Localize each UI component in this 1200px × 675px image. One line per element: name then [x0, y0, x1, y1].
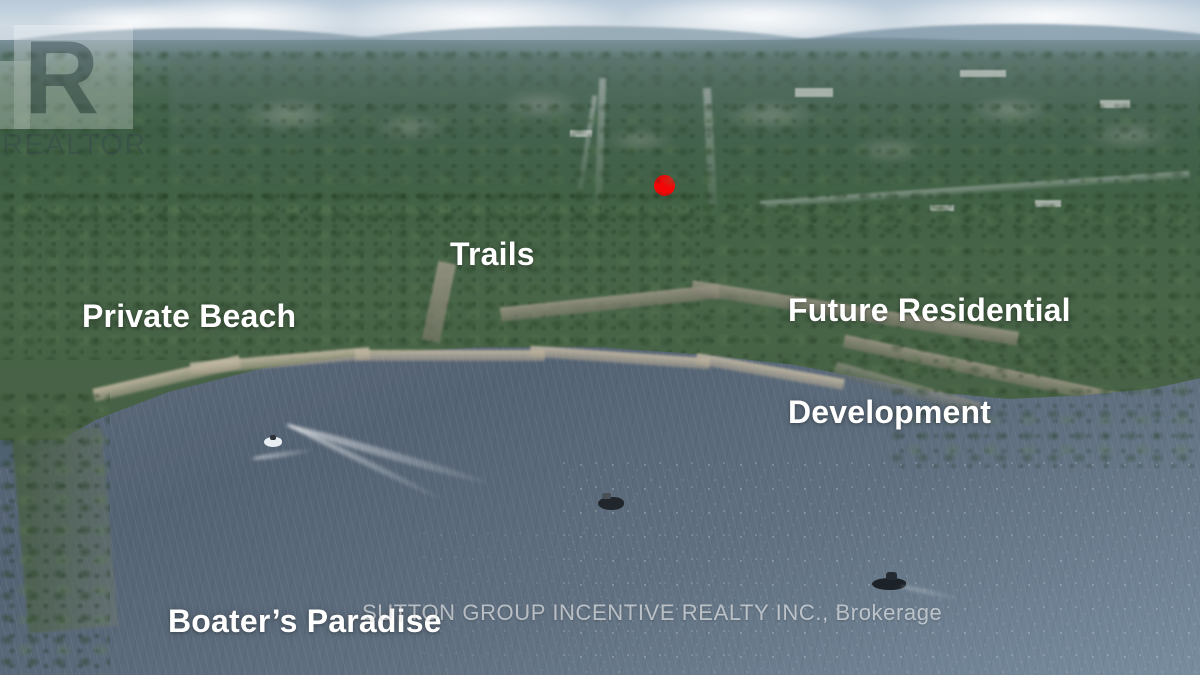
building — [795, 88, 833, 97]
brokerage-watermark: SUTTON GROUP INCENTIVE REALTY INC., Brok… — [362, 600, 942, 626]
annotation-future-residential-development: Future Residential Development — [788, 226, 1071, 497]
boat-right — [872, 578, 906, 591]
boat-with-wake — [264, 437, 282, 447]
annotation-private-beach: Private Beach — [82, 300, 296, 334]
aerial-property-photo: Private Beach Trails Future Residential … — [0, 0, 1200, 675]
scrubland — [0, 190, 700, 360]
realtor-logo-watermark: R REALTOR ® — [0, 25, 133, 165]
private-beach-sand — [355, 350, 545, 361]
shoreline-trees — [0, 390, 110, 675]
annotation-line-1: Future Residential — [788, 294, 1071, 328]
building — [960, 70, 1006, 77]
annotation-line-2: Development — [788, 396, 1071, 430]
realtor-logo-letter: R — [24, 33, 99, 125]
boat-center — [598, 497, 624, 510]
annotation-trails: Trails — [450, 238, 535, 272]
realtor-logo-wordmark: REALTOR — [2, 129, 147, 162]
registered-trademark-icon: ® — [116, 133, 124, 145]
